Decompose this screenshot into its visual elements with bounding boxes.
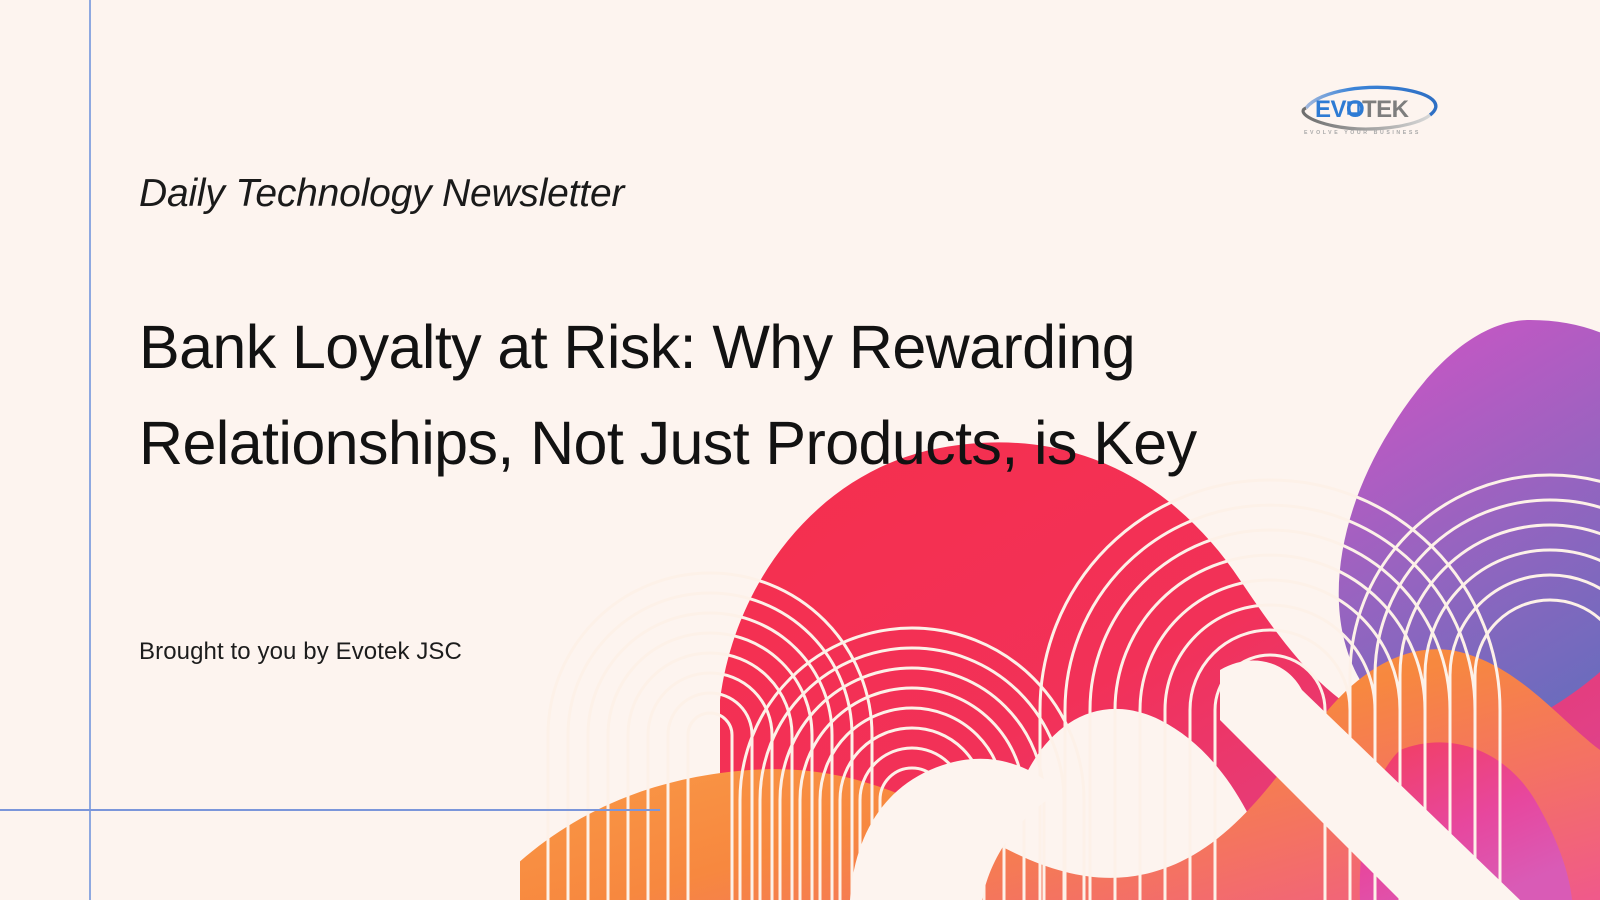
logo-tagline: EVOLVE YOUR BUSINESS	[1304, 130, 1421, 136]
text-content-block: Daily Technology Newsletter Bank Loyalty…	[139, 0, 1239, 900]
arc-lines-far-right	[1350, 475, 1600, 900]
logo-word-evo: EVO	[1315, 96, 1364, 123]
blob-purple	[1339, 320, 1600, 762]
eyebrow-label: Daily Technology Newsletter	[139, 172, 624, 216]
byline-text: Brought to you by Evotek JSC	[139, 638, 462, 666]
newsletter-cover-slide: EVO TEK EVOLVE YOUR BUSINESS Daily Techn…	[0, 0, 1600, 900]
logo-word-tek: TEK	[1362, 96, 1410, 123]
evotek-logo: EVO TEK EVOLVE YOUR BUSINESS	[1290, 78, 1450, 146]
blob-pink-tail	[1360, 742, 1572, 900]
page-title: Bank Loyalty at Risk: Why Rewarding Rela…	[139, 299, 1199, 491]
vertical-rule	[89, 0, 91, 900]
blob-cream-diagonal	[1220, 660, 1520, 900]
